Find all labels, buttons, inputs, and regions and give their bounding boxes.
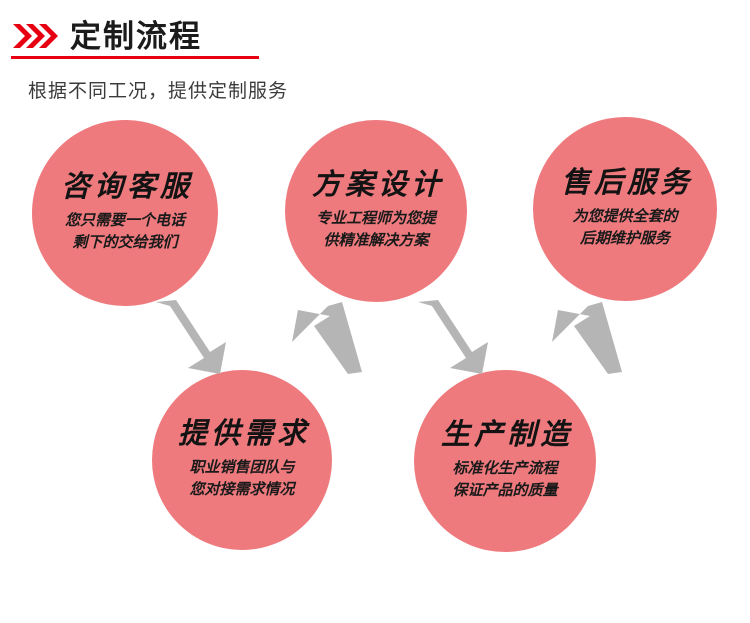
- node-description: 职业销售团队与 您对接需求情况: [189, 458, 294, 502]
- arrow-up-right-icon: [288, 298, 370, 376]
- node-description-line1: 职业销售团队与: [189, 458, 294, 480]
- node-description-line1: 您只需要一个电话: [65, 211, 185, 233]
- node-title: 咨询客服: [57, 172, 193, 202]
- flow-node-provide-requirements[interactable]: 提供需求 职业销售团队与 您对接需求情况: [152, 370, 332, 550]
- node-title: 售后服务: [557, 168, 693, 198]
- node-description-line2: 保证产品的质量: [452, 481, 557, 503]
- page-title: 定制流程: [70, 21, 202, 52]
- node-description: 标准化生产流程 保证产品的质量: [452, 459, 557, 503]
- node-title: 方案设计: [308, 170, 444, 200]
- arrow-down-right-icon: [148, 298, 230, 376]
- arrow-down-right-icon: [410, 298, 492, 376]
- node-description: 专业工程师为您提 供精准解决方案: [316, 209, 436, 253]
- triple-chevron-right-icon: [12, 23, 58, 49]
- node-description-line2: 您对接需求情况: [189, 480, 294, 502]
- node-description-line1: 专业工程师为您提: [316, 209, 436, 231]
- page-subtitle: 根据不同工况，提供定制服务: [28, 76, 288, 103]
- arrow-up-right-icon: [548, 298, 630, 376]
- node-description-line2: 剩下的交给我们: [65, 233, 185, 255]
- node-description-line1: 标准化生产流程: [452, 459, 557, 481]
- node-title: 提供需求: [174, 419, 310, 449]
- flow-node-after-sales-service[interactable]: 售后服务 为您提供全套的 后期维护服务: [533, 117, 717, 301]
- node-title: 生产制造: [437, 420, 573, 450]
- node-description-line2: 后期维护服务: [572, 229, 677, 251]
- flow-node-production-manufacturing[interactable]: 生产制造 标准化生产流程 保证产品的质量: [414, 370, 596, 552]
- flow-node-consult-service[interactable]: 咨询客服 您只需要一个电话 剩下的交给我们: [32, 120, 218, 306]
- flow-node-solution-design[interactable]: 方案设计 专业工程师为您提 供精准解决方案: [285, 120, 467, 302]
- node-description: 您只需要一个电话 剩下的交给我们: [65, 211, 185, 255]
- page-header: 定制流程: [12, 14, 202, 58]
- node-description-line1: 为您提供全套的: [572, 207, 677, 229]
- node-description: 为您提供全套的 后期维护服务: [572, 207, 677, 251]
- node-description-line2: 供精准解决方案: [316, 231, 436, 253]
- title-underline: [11, 56, 259, 59]
- customization-process-infographic: 定制流程 根据不同工况，提供定制服务 咨询客服 您只需要一个电话 剩下的交给我们…: [0, 0, 750, 623]
